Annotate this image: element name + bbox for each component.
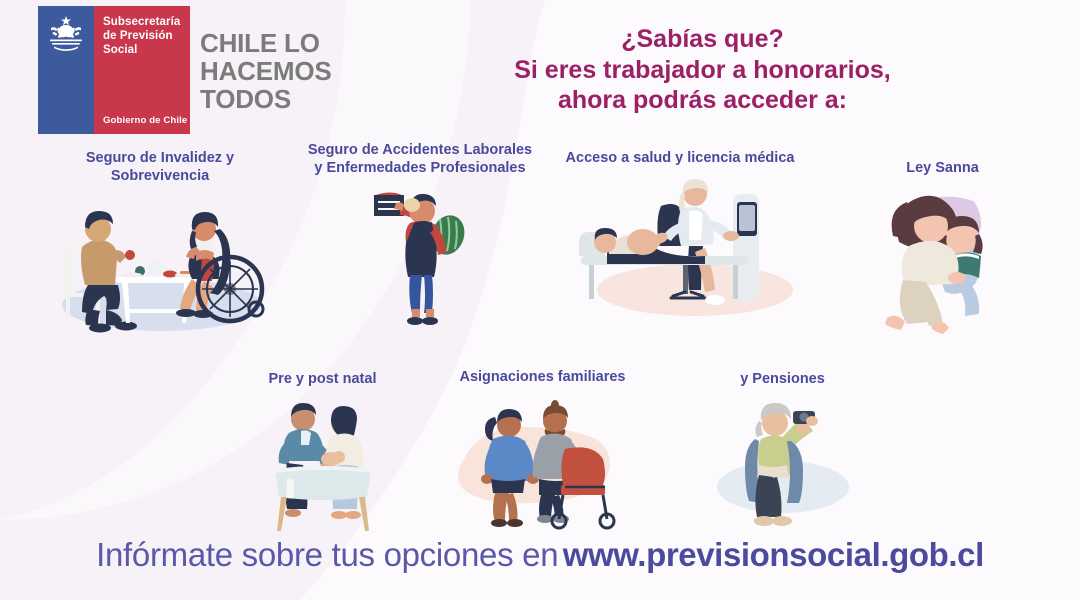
benefit-label-invalidez: Seguro de Invalidez y Sobrevivencia [40, 150, 280, 185]
footer-website-url[interactable]: www.previsionsocial.gob.cl [563, 536, 984, 573]
footer-lead-text: Infórmate sobre tus opciones en [96, 536, 558, 573]
benefit-label-pensiones: y Pensiones [700, 371, 865, 389]
tagline-line-1: CHILE LO [200, 28, 320, 58]
benefit-card-sanna: Ley Sanna [855, 160, 1030, 344]
parents-bathing-baby-illustration [257, 397, 389, 537]
footer-cta: Infórmate sobre tus opciones en www.prev… [0, 536, 1080, 574]
benefit-card-accidentes: Seguro de Accidentes Laborales y Enferme… [305, 142, 535, 331]
benefit-card-invalidez: Seguro de Invalidez y Sobrevivencia [40, 150, 280, 335]
worker-carrying-crates-illustration [360, 183, 480, 331]
gobierno-de-chile-logo: Subsecretaría de Previsión Social Gobier… [38, 6, 190, 134]
logo-institution-name: Subsecretaría de Previsión Social [103, 15, 190, 57]
mother-reading-with-child-in-bed-illustration [863, 184, 1023, 344]
logo-blue-panel [38, 6, 94, 134]
headline-line-1: ¿Sabías que? [430, 24, 975, 55]
campaign-tagline: CHILE LO HACEMOS TODOS [200, 30, 332, 113]
logo-title-line-3: Social [103, 44, 137, 56]
benefit-label-natal: Pre y post natal [235, 371, 410, 389]
benefit-label-sanna: Ley Sanna [855, 160, 1030, 178]
tagline-line-2: HACEMOS [200, 56, 332, 86]
benefit-card-pensiones: y Pensiones [700, 371, 865, 535]
logo-red-panel: Subsecretaría de Previsión Social Gobier… [94, 6, 190, 134]
doctor-ultrasound-exam-illustration [565, 172, 797, 322]
benefit-card-salud: Acceso a salud y licencia médica [565, 150, 795, 322]
logo-title-line-2: de Previsión [103, 30, 173, 42]
family-walking-with-stroller-illustration [453, 395, 633, 535]
chile-coat-of-arms-icon [44, 14, 88, 54]
headline-line-3: ahora podrás acceder a: [430, 85, 975, 116]
logo-government-label: Gobierno de Chile [103, 115, 187, 126]
benefit-label-accidentes: Seguro de Accidentes Laborales y Enferme… [305, 142, 535, 177]
benefit-label-asignaciones: Asignaciones familiares [435, 369, 650, 387]
couple-at-table-wheelchair-illustration [44, 185, 276, 335]
logo-title-line-1: Subsecretaría [103, 16, 180, 28]
benefit-label-salud: Acceso a salud y licencia médica [565, 150, 795, 168]
benefit-card-asignaciones: Asignaciones familiares [435, 369, 650, 535]
infographic-canvas: Subsecretaría de Previsión Social Gobier… [0, 0, 1080, 600]
headline-line-2: Si eres trabajador a honorarios, [430, 55, 975, 86]
elderly-person-taking-photo-illustration [713, 395, 853, 535]
tagline-line-3: TODOS [200, 84, 291, 114]
benefit-card-natal: Pre y post natal [235, 371, 410, 537]
headline: ¿Sabías que? Si eres trabajador a honora… [430, 24, 975, 116]
